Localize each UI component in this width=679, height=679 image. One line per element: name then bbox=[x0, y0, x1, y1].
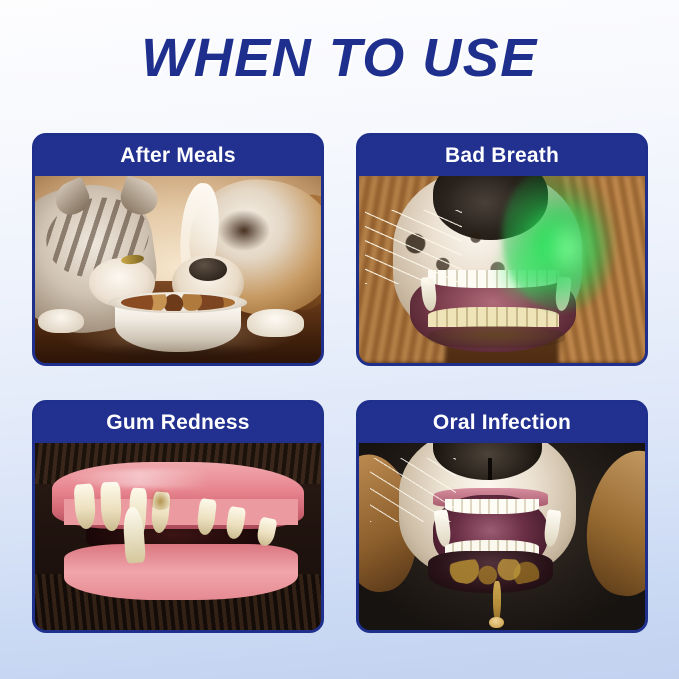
infection-crust-shape bbox=[445, 559, 542, 585]
use-case-card-oral-infection[interactable]: Oral Infection bbox=[356, 400, 648, 633]
tartar-buildup-shape bbox=[428, 326, 565, 348]
use-case-card-gum-redness[interactable]: Gum Redness bbox=[32, 400, 324, 633]
use-case-card-bad-breath[interactable]: Bad Breath bbox=[356, 133, 648, 366]
card-title-oral-infection: Oral Infection bbox=[359, 403, 645, 443]
infographic-root: WHEN TO USE After Meals bbox=[0, 0, 679, 679]
discharge-droplet-shape bbox=[489, 617, 503, 628]
tooth-shape bbox=[100, 482, 122, 531]
nose-philtrum-shape bbox=[488, 458, 492, 480]
gum-highlight-shape bbox=[69, 469, 269, 488]
card-title-after-meals: After Meals bbox=[35, 136, 321, 176]
cat-paw-shape bbox=[38, 309, 84, 333]
page-title: WHEN TO USE bbox=[0, 28, 679, 88]
inflamed-red-gums-closeup-photo bbox=[35, 443, 321, 630]
dog-bad-breath-green-smoke-photo bbox=[359, 176, 645, 363]
upper-teeth-shape bbox=[445, 499, 539, 514]
dog-nose-shape bbox=[189, 258, 226, 280]
whiskers-shape bbox=[365, 210, 462, 285]
whiskers-shape bbox=[370, 458, 456, 522]
lower-gum-shape bbox=[64, 544, 299, 600]
dog-eye-patch-shape bbox=[218, 210, 269, 251]
lower-teeth-shape bbox=[428, 307, 560, 328]
dog-oral-infection-discharge-photo bbox=[359, 443, 645, 630]
green-breath-smoke-tertiary-shape bbox=[491, 232, 560, 307]
card-title-bad-breath: Bad Breath bbox=[359, 136, 645, 176]
cat-and-dog-eating-from-bowl-photo bbox=[35, 176, 321, 363]
dog-paw-shape bbox=[247, 309, 304, 337]
use-case-card-after-meals[interactable]: After Meals bbox=[32, 133, 324, 366]
use-case-card-grid: After Meals bbox=[32, 133, 648, 633]
kibble-food-shape bbox=[121, 294, 235, 311]
card-title-gum-redness: Gum Redness bbox=[35, 403, 321, 443]
